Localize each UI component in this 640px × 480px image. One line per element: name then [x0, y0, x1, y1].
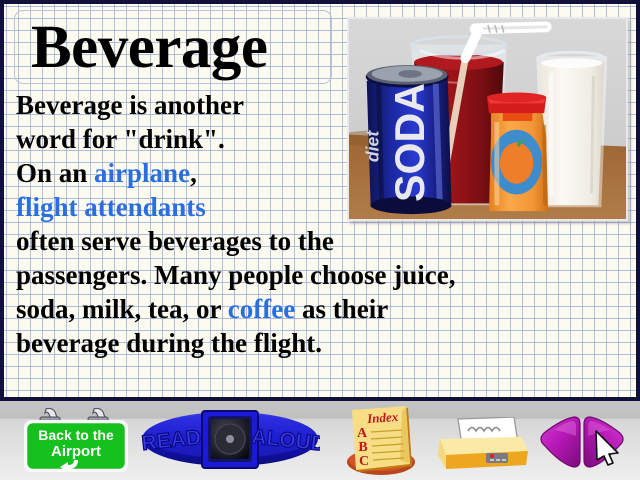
body-text-span: often serve beverages to the	[16, 226, 334, 256]
index-label: Index	[366, 409, 400, 426]
road-sign-icon: Back to the Airport	[18, 407, 136, 475]
print-button[interactable]	[428, 417, 540, 473]
body-line: soda, milk, tea, or coffee as their	[16, 292, 632, 326]
index-notepad-icon: Index A B C	[338, 404, 424, 478]
index-letter-b: B	[358, 440, 367, 455]
bottom-toolbar: Back to the Airport	[0, 401, 640, 480]
body-text-span: On an	[16, 158, 94, 188]
back-sign-line1: Back to the	[38, 427, 114, 443]
soda-can: SODA diet	[363, 65, 452, 214]
body-link[interactable]: flight attendants	[16, 192, 206, 222]
svg-text:SODA: SODA	[387, 83, 433, 202]
previous-page-button[interactable]	[530, 413, 582, 471]
body-line: often serve beverages to the	[16, 224, 632, 258]
svg-text:diet: diet	[363, 130, 383, 162]
illustration-frame: SODA diet	[347, 17, 628, 221]
body-line: beverage during the flight.	[16, 326, 632, 360]
title-box: Beverage	[14, 10, 332, 84]
speaker-icon: READ ALOUD	[140, 409, 320, 473]
index-letter-a: A	[357, 426, 368, 441]
read-aloud-button[interactable]: READ ALOUD	[140, 409, 320, 473]
body-text-span: ,	[190, 158, 197, 188]
content-page: Beverage Beverage is anotherword for "dr…	[0, 0, 640, 401]
body-text-span: word for "drink".	[16, 124, 225, 154]
juice-bottle	[487, 93, 548, 212]
next-page-button[interactable]	[582, 413, 638, 471]
back-sign-line2: Airport	[51, 443, 101, 460]
body-text-span: soda, milk, tea, or	[16, 294, 228, 324]
beverages-illustration: SODA diet	[349, 19, 626, 219]
body-link[interactable]: airplane	[94, 158, 190, 188]
body-line: passengers. Many people choose juice,	[16, 258, 632, 292]
back-arrow-icon	[530, 413, 582, 471]
back-to-airport-button[interactable]: Back to the Airport	[18, 407, 136, 475]
body-text-span: beverage during the flight.	[16, 328, 322, 358]
printer-icon	[428, 417, 540, 473]
app-window: Beverage Beverage is anotherword for "dr…	[0, 0, 640, 480]
index-button[interactable]: Index A B C	[338, 404, 424, 478]
body-text-span: as their	[295, 294, 388, 324]
index-letter-c: C	[359, 454, 369, 469]
forward-arrow-icon	[582, 413, 638, 471]
page-title: Beverage	[15, 17, 268, 78]
body-link[interactable]: coffee	[228, 294, 295, 324]
body-text-span: passengers. Many people choose juice,	[16, 260, 455, 290]
body-text-span: Beverage is another	[16, 90, 244, 120]
